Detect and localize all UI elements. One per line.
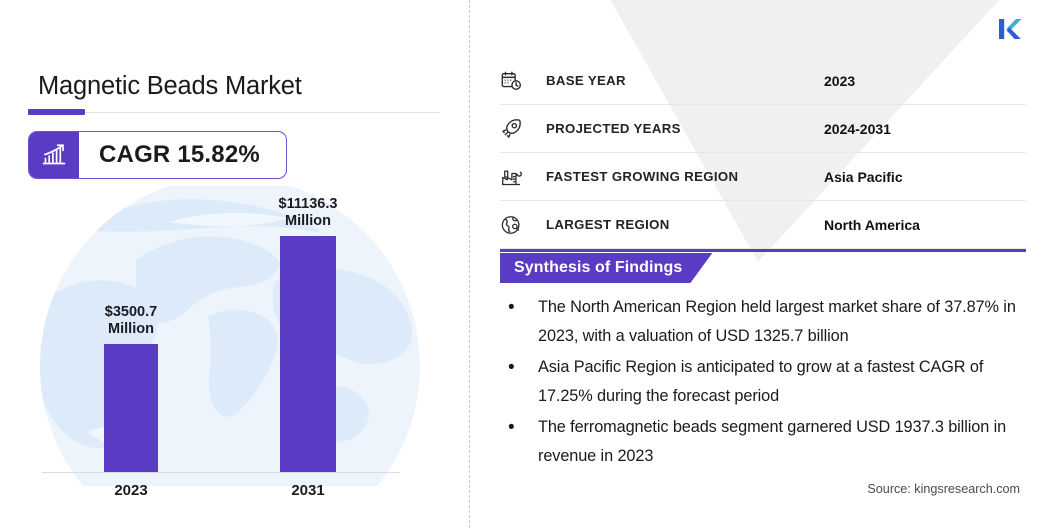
calendar-clock-icon [500, 70, 546, 92]
bullet-glyph: • [500, 293, 538, 351]
factory-icon [500, 166, 546, 188]
bar-value-label-2031: $11136.3 Million [252, 196, 364, 230]
title-rule-accent [28, 109, 85, 115]
bar-chart-growth-icon [29, 132, 79, 178]
right-panel: BASE YEAR 2023 PROJECTED YEARS 2024-2031 [470, 0, 1056, 528]
bar-2023 [104, 344, 158, 472]
chart-axis [42, 472, 400, 473]
bar-chart: $3500.7 Million 2023 $11136.3 Million 20… [0, 186, 469, 516]
globe-icon [500, 214, 546, 236]
bar-category-label-2023: 2023 [76, 482, 186, 499]
bar-category-label-2031: 2031 [252, 482, 364, 499]
bar-value-label-2023: $3500.7 Million [76, 304, 186, 338]
finding-text: The ferromagnetic beads segment garnered… [538, 413, 1020, 471]
info-value: North America [824, 217, 920, 233]
info-table: BASE YEAR 2023 PROJECTED YEARS 2024-2031 [500, 57, 1026, 249]
cagr-value: CAGR 15.82% [79, 132, 286, 178]
finding-text: The North American Region held largest m… [538, 293, 1020, 351]
info-key: FASTEST GROWING REGION [546, 169, 824, 184]
rocket-icon [500, 118, 546, 140]
bar-2031 [280, 236, 336, 472]
bullet-glyph: • [500, 413, 538, 471]
synthesis-top-rule [500, 249, 1026, 252]
info-row-largest-region: LARGEST REGION North America [500, 201, 1026, 249]
list-item: • Asia Pacific Region is anticipated to … [500, 353, 1020, 411]
info-value: Asia Pacific [824, 169, 903, 185]
info-key: LARGEST REGION [546, 217, 824, 232]
cagr-badge: CAGR 15.82% [28, 131, 287, 179]
list-item: • The ferromagnetic beads segment garner… [500, 413, 1020, 471]
infographic-root: Magnetic Beads Market CAGR 15.82% [0, 0, 1056, 528]
page-title: Magnetic Beads Market [38, 72, 302, 101]
info-key: PROJECTED YEARS [546, 121, 824, 136]
title-rule [28, 112, 440, 113]
info-value: 2023 [824, 73, 855, 89]
synthesis-heading: Synthesis of Findings [500, 253, 712, 283]
info-row-projected-years: PROJECTED YEARS 2024-2031 [500, 105, 1026, 153]
left-panel: Magnetic Beads Market CAGR 15.82% [0, 0, 469, 528]
info-row-base-year: BASE YEAR 2023 [500, 57, 1026, 105]
bullet-glyph: • [500, 353, 538, 411]
findings-list: • The North American Region held largest… [500, 293, 1020, 473]
list-item: • The North American Region held largest… [500, 293, 1020, 351]
finding-text: Asia Pacific Region is anticipated to gr… [538, 353, 1020, 411]
info-value: 2024-2031 [824, 121, 891, 137]
info-row-fastest-growing-region: FASTEST GROWING REGION Asia Pacific [500, 153, 1026, 201]
kings-research-logo [996, 14, 1026, 44]
source-attribution: Source: kingsresearch.com [867, 482, 1020, 496]
info-key: BASE YEAR [546, 73, 824, 88]
